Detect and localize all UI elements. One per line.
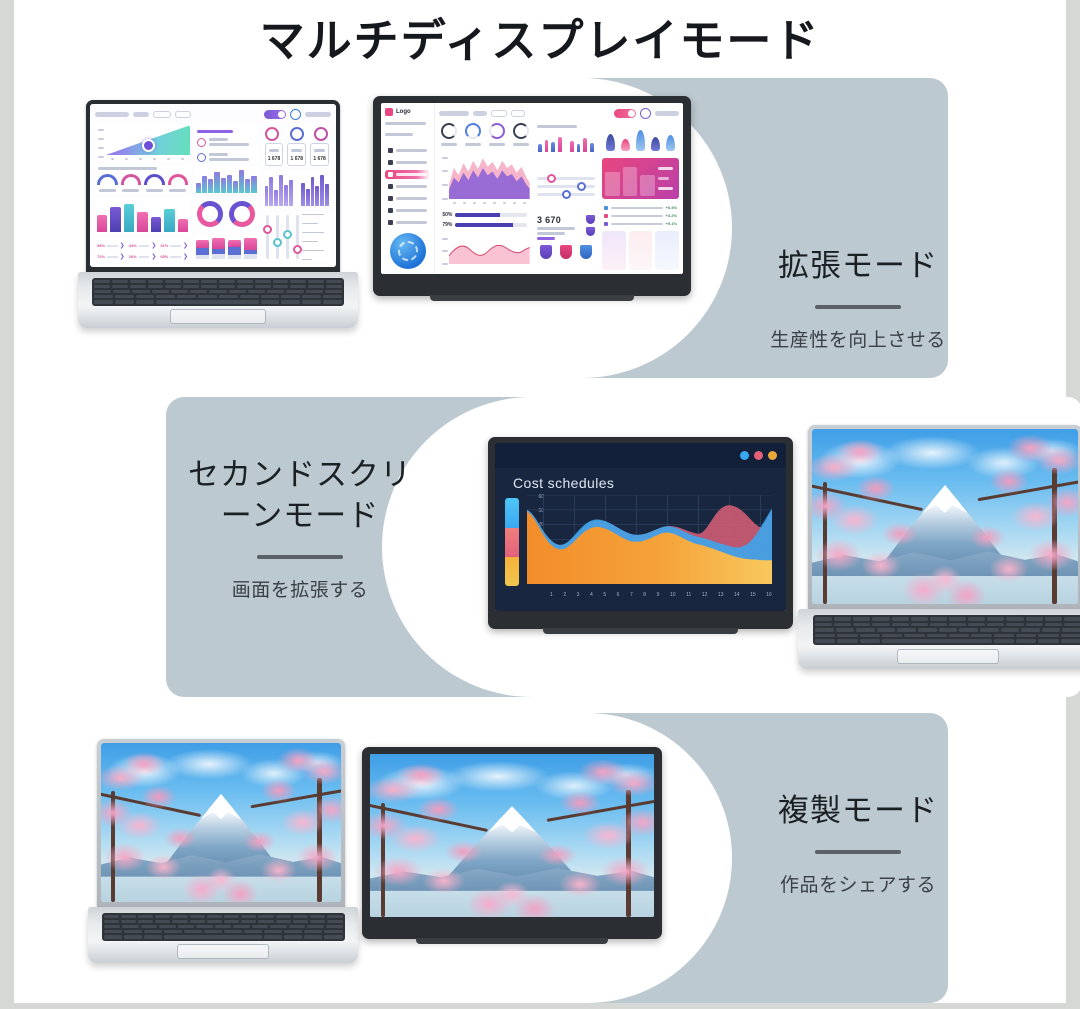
tree-trunk — [823, 482, 827, 605]
monitor-bezel — [362, 747, 662, 939]
sakura-wallpaper — [812, 429, 1078, 604]
flow-row: 58%❯ 44%❯ 31%❯ — [97, 242, 188, 249]
x-axis — [105, 156, 190, 161]
mini-card — [629, 231, 653, 270]
user-name-label — [305, 112, 331, 117]
chart-title: Cost schedules — [513, 475, 614, 491]
badge-icon — [586, 215, 595, 224]
legend-list: +6.4% +3.2% +9.1% — [602, 203, 679, 226]
laptop-keyboard[interactable] — [813, 615, 1080, 645]
sidebar-item-5[interactable] — [385, 194, 430, 203]
logo-label: Logo — [396, 109, 411, 115]
donut-chart — [229, 201, 255, 227]
laptop-screen — [812, 429, 1078, 604]
sidebar-nav — [385, 146, 430, 227]
mountain-area-chart — [439, 151, 530, 205]
sidebar-logo[interactable]: Logo — [385, 108, 430, 116]
logo-icon — [385, 108, 393, 116]
laptop-trackpad[interactable] — [897, 649, 999, 665]
avatar[interactable] — [640, 108, 651, 119]
toolbar-chip[interactable] — [175, 111, 191, 118]
progress-inner-ring — [398, 241, 418, 261]
x-tick: 5 — [603, 592, 606, 598]
laptop-sakura-second-screen — [798, 425, 1080, 687]
monitor-bezel: Logo — [373, 96, 691, 296]
sidebar-item-7[interactable] — [385, 218, 430, 227]
x-tick: 10 — [670, 592, 676, 598]
portable-monitor-cost-schedules: Cost schedules 0 10 20 30 40 50 60 — [488, 437, 793, 629]
x-tick: 3 — [577, 592, 580, 598]
slider-group — [534, 165, 598, 208]
laptop-screen — [101, 743, 341, 902]
laptop-lid — [808, 425, 1080, 611]
vertical-slider[interactable] — [276, 215, 279, 259]
dashboard-column: 58%❯ 44%❯ 31%❯ 72%❯ 26%❯ 65%❯ — [95, 125, 190, 262]
chart-plot-area — [527, 495, 772, 584]
section-second-screen-mode: セカンドスクリ ーンモード 画面を拡張する Cost schedules — [166, 397, 1080, 697]
kpi-box: 1 678 — [265, 143, 284, 166]
monitor-screen: Logo — [381, 103, 683, 274]
ring-kpi-row — [439, 123, 530, 147]
product-infographic-page: マルチディスプレイモード — [0, 0, 1080, 1009]
kpi-box: 1 678 — [287, 143, 306, 166]
sidebar-progress-circle — [390, 233, 426, 269]
laptop-base — [78, 272, 358, 328]
nav-icon — [388, 160, 393, 165]
caption-title: 複製モード — [778, 791, 938, 832]
toolbar-chip[interactable] — [153, 111, 171, 118]
donut-pair — [194, 199, 259, 228]
gauge-row — [95, 165, 190, 193]
nav-icon — [388, 172, 393, 177]
legend-row: +6.4% — [604, 205, 677, 210]
caption-duplicate-mode: 複製モード 作品をシェアする — [738, 791, 978, 897]
caption-title: 拡張モード — [778, 246, 938, 287]
dashboard-main: 50% 79% — [435, 103, 683, 274]
slider[interactable] — [537, 193, 595, 196]
ring-kpi — [439, 123, 458, 147]
caption-divider — [815, 850, 901, 854]
badge-icon — [580, 245, 592, 259]
section-extended-mode: 58%❯ 44%❯ 31%❯ 72%❯ 26%❯ 65%❯ — [32, 78, 948, 378]
mini-card-row — [602, 231, 679, 270]
sidebar-item-4[interactable] — [385, 182, 430, 191]
sakura-wallpaper — [370, 754, 654, 917]
vertical-slider[interactable] — [266, 215, 269, 259]
cost-area-chart-svg — [527, 495, 772, 584]
caption-subtitle: 作品をシェアする — [780, 870, 936, 897]
monitor-stand — [543, 628, 738, 634]
big-stat-card: 3 670 — [534, 212, 598, 270]
ring-kpi — [511, 123, 530, 147]
caption-divider — [257, 555, 343, 559]
section-duplicate-mode: 複製モード 作品をシェアする — [32, 713, 948, 1003]
legend-row: +3.2% — [604, 213, 677, 218]
x-tick: 16 — [766, 592, 772, 598]
caption-extended-mode: 拡張モード 生産性を向上させる — [738, 246, 978, 352]
x-tick: 14 — [734, 592, 740, 598]
chart-icon — [388, 196, 393, 201]
chart-color-legend — [505, 498, 519, 585]
tree-trunk — [111, 791, 115, 902]
laptop-base — [88, 907, 358, 963]
caption-divider — [815, 305, 901, 309]
monitor-bezel: Cost schedules 0 10 20 30 40 50 60 — [488, 437, 793, 629]
wedge-area-chart — [95, 125, 190, 161]
dashboard-grid: 58%❯ 44%❯ 31%❯ 72%❯ 26%❯ 65%❯ — [90, 125, 336, 267]
app-titlebar — [495, 443, 786, 468]
monitor-dashboard: Logo — [381, 103, 683, 274]
laptop-base — [798, 609, 1080, 669]
slider[interactable] — [537, 177, 595, 180]
mini-card — [655, 231, 679, 270]
chart-x-axis: 1 2 3 4 5 6 7 8 9 10 11 12 13 — [550, 592, 772, 598]
x-tick: 6 — [617, 592, 620, 598]
monitor-stand — [430, 295, 634, 301]
flow-row: 72%❯ 26%❯ 65%❯ — [97, 253, 188, 260]
laptop-trackpad[interactable] — [170, 309, 265, 324]
page-title: マルチディスプレイモード — [260, 4, 821, 69]
highlight-point — [142, 139, 155, 152]
tree-trunk — [626, 790, 631, 917]
wave-chart-svg — [449, 233, 530, 264]
badge-icon — [560, 245, 572, 259]
badge-icon — [586, 227, 595, 236]
search-icon — [388, 208, 393, 213]
gear-icon — [388, 220, 393, 225]
slider[interactable] — [537, 185, 595, 188]
dashboard-toggle[interactable] — [614, 109, 636, 118]
y-axis — [95, 125, 104, 161]
tree-trunk — [1052, 468, 1057, 605]
vertical-slider[interactable] — [296, 215, 299, 259]
laptop-trackpad[interactable] — [177, 944, 269, 959]
ring-kpi — [463, 123, 482, 147]
window-dot-red-icon[interactable] — [754, 451, 763, 460]
x-tick: 15 — [750, 592, 756, 598]
mini-bar-pair — [534, 123, 598, 161]
pink-summary-panel — [602, 158, 679, 199]
portable-monitor-analytics: Logo — [373, 96, 691, 296]
toolbar-label — [133, 112, 149, 117]
cost-schedules-app: Cost schedules 0 10 20 30 40 50 60 — [495, 443, 786, 611]
legend-row: +9.1% — [604, 221, 677, 226]
donut-chart — [197, 201, 223, 227]
monitor-screen — [370, 754, 654, 917]
badge-icon — [540, 245, 552, 259]
portable-monitor-sakura — [362, 747, 662, 939]
spiky-bar-chart — [194, 166, 259, 195]
laptop-analytics: 58%❯ 44%❯ 31%❯ 72%❯ 26%❯ 65%❯ — [78, 100, 358, 350]
gear-icon — [388, 184, 393, 189]
stacked-column-chart — [194, 233, 259, 262]
chart-plot — [105, 125, 190, 155]
kpi-row: 1 678 1 678 1 678 — [263, 125, 331, 166]
page-title-bar: マルチディスプレイモード — [14, 0, 1066, 72]
sidebar-item-1[interactable] — [385, 146, 430, 155]
tree-trunk — [317, 778, 322, 902]
x-tick: 4 — [590, 592, 593, 598]
x-tick: 2 — [563, 592, 566, 598]
laptop-lid: 58%❯ 44%❯ 31%❯ 72%❯ 26%❯ 65%❯ — [86, 100, 340, 274]
gauge — [121, 174, 142, 193]
cone-chart — [602, 123, 679, 154]
sakura-wallpaper — [101, 743, 341, 902]
slider-panel — [263, 212, 331, 262]
kpi-ring — [265, 127, 279, 141]
monitor-stand — [416, 938, 608, 944]
caption-subtitle: 画面を拡張する — [232, 575, 369, 602]
avatar[interactable] — [290, 109, 301, 120]
window-dot-blue-icon[interactable] — [740, 451, 749, 460]
caption-subtitle: 生産性を向上させる — [770, 325, 946, 352]
toolbar-label — [95, 112, 129, 117]
caption-title: セカンドスクリ ーンモード — [188, 455, 412, 537]
x-tick: 12 — [702, 592, 708, 598]
kpi-ring — [290, 127, 304, 141]
dashboard-toggle[interactable] — [264, 110, 286, 119]
dashboard-toolbar — [90, 104, 336, 125]
laptop-sakura-duplicate — [88, 739, 358, 977]
dual-spike-charts — [263, 170, 331, 208]
laptop-lid — [97, 739, 345, 909]
x-tick: 11 — [686, 592, 691, 598]
progress-bars: 50% 79% — [439, 209, 530, 229]
tree-trunk — [381, 803, 385, 917]
numbered-list — [194, 125, 259, 162]
big-stat-value: 3 670 — [537, 215, 582, 225]
mini-card — [602, 231, 626, 270]
gauge — [97, 174, 118, 193]
page-inner: マルチディスプレイモード — [14, 0, 1066, 1003]
x-tick: 9 — [657, 592, 660, 598]
flow-rows: 58%❯ 44%❯ 31%❯ 72%❯ 26%❯ 65%❯ — [95, 239, 190, 262]
x-tick: 8 — [643, 592, 646, 598]
analytics-dashboard: 58%❯ 44%❯ 31%❯ 72%❯ 26%❯ 65%❯ — [90, 104, 336, 267]
ring-kpi — [487, 123, 506, 147]
x-tick: 13 — [718, 592, 724, 598]
pink-wave-chart — [439, 233, 530, 270]
gauge — [168, 174, 189, 193]
kpi-box: 1 678 — [310, 143, 329, 166]
sidebar-item-3-active[interactable] — [385, 170, 430, 179]
x-tick: 1 — [550, 592, 553, 598]
nav-icon — [388, 148, 393, 153]
sidebar-item-6[interactable] — [385, 206, 430, 215]
dashboard-column — [194, 125, 259, 262]
laptop-keyboard[interactable] — [92, 278, 344, 306]
area-chart-svg — [449, 151, 530, 199]
bar-chart — [95, 197, 190, 235]
caption-second-screen-mode: セカンドスクリ ーンモード 画面を拡張する — [174, 455, 426, 602]
laptop-screen: 58%❯ 44%❯ 31%❯ 72%❯ 26%❯ 65%❯ — [90, 104, 336, 267]
kpi-ring — [314, 127, 328, 141]
vertical-slider[interactable] — [286, 215, 289, 259]
gauge — [144, 174, 165, 193]
window-dot-yellow-icon[interactable] — [768, 451, 777, 460]
dashboard-column: 1 678 1 678 1 678 — [263, 125, 331, 262]
monitor-screen: Cost schedules 0 10 20 30 40 50 60 — [495, 443, 786, 611]
x-tick: 7 — [630, 592, 633, 598]
sidebar-item-2[interactable] — [385, 158, 430, 167]
dashboard-sidebar: Logo — [381, 103, 435, 274]
laptop-keyboard[interactable] — [102, 913, 345, 941]
